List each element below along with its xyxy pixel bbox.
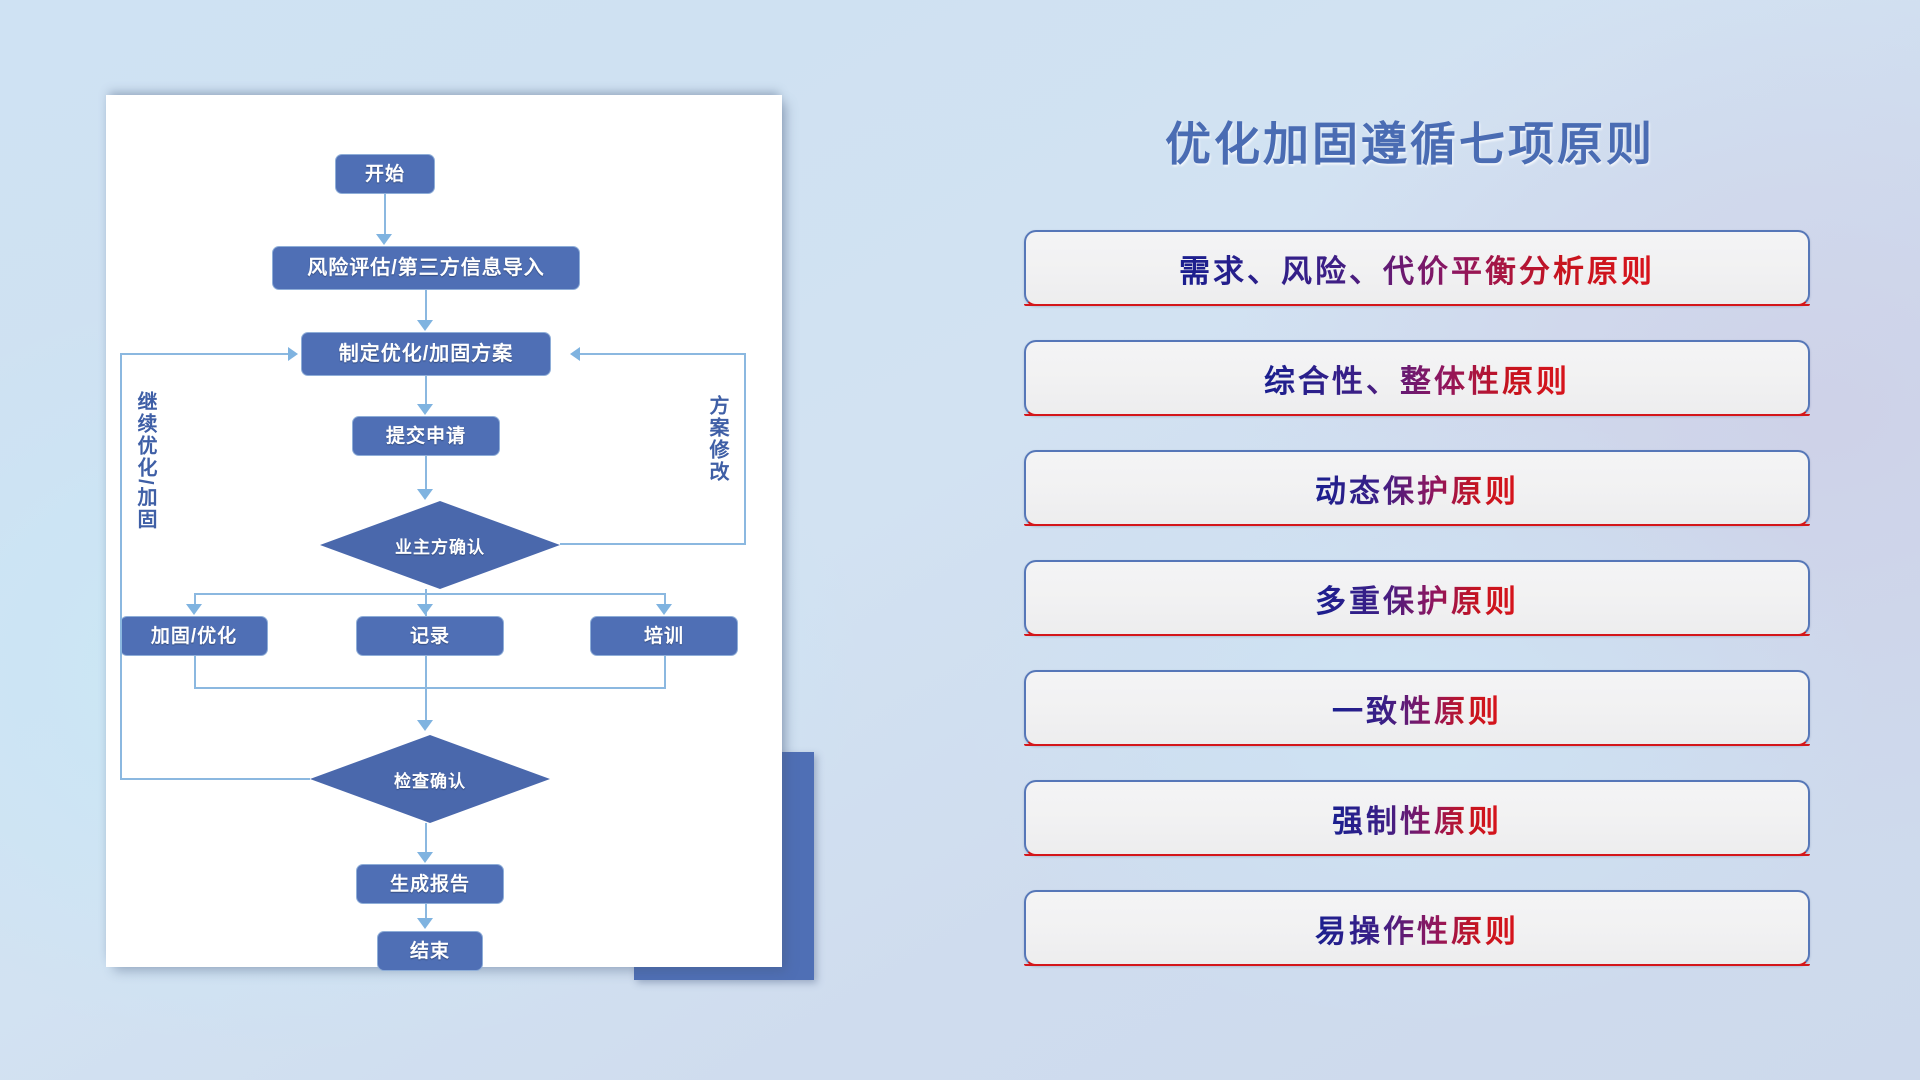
connector-merge-bus: [194, 687, 666, 689]
arrow-head-icon: [417, 852, 433, 863]
connector-submit-to-owner: [425, 456, 427, 491]
connector-plan-to-submit: [425, 376, 427, 406]
flow-node-training[interactable]: 培训: [590, 616, 738, 656]
principle-card-4[interactable]: 多重保护原则: [1024, 560, 1810, 636]
flow-node-plan[interactable]: 制定优化/加固方案: [301, 332, 551, 376]
arrow-head-icon: [417, 720, 433, 731]
connector-risk-to-plan: [425, 290, 427, 322]
connector-loop-right-bottom: [560, 543, 746, 545]
flowchart-stage: 开始 风险评估/第三方信息导入 制定优化/加固方案 提交申请 业主方确认 加固/…: [0, 0, 900, 1080]
principle-label: 动态保护原则: [1315, 466, 1519, 511]
flow-node-label: 培训: [644, 627, 684, 646]
connector-branch-bus: [194, 593, 666, 595]
principle-label: 易操作性原则: [1315, 906, 1519, 951]
principle-card-7[interactable]: 易操作性原则: [1024, 890, 1810, 966]
arrow-head-icon: [417, 404, 433, 415]
edge-label-continue-optimize: 继续优化/加固: [134, 381, 155, 541]
flow-node-risk-assessment[interactable]: 风险评估/第三方信息导入: [272, 246, 580, 290]
principles-list: 需求、风险、代价平衡分析原则 综合性、整体性原则 动态保护原则 多重保护原则 一…: [1024, 230, 1810, 1000]
arrow-head-icon: [570, 347, 580, 361]
connector-loop-right-rail: [744, 353, 746, 545]
flow-node-end[interactable]: 结束: [377, 931, 483, 971]
flow-node-label: 风险评估/第三方信息导入: [307, 258, 545, 278]
connector-check-to-report: [425, 823, 427, 852]
connector-loop-left-top: [120, 353, 290, 355]
connector-loop-left-bottom: [120, 778, 310, 780]
arrow-head-icon: [656, 604, 672, 615]
flow-node-label: 开始: [365, 165, 405, 184]
principle-card-1[interactable]: 需求、风险、代价平衡分析原则: [1024, 230, 1810, 306]
flow-node-label: 加固/优化: [151, 627, 237, 646]
flow-node-label: 提交申请: [386, 427, 466, 446]
flow-node-label: 记录: [410, 627, 450, 646]
principle-label: 多重保护原则: [1315, 576, 1519, 621]
connector-loop-left-rail: [120, 353, 122, 780]
flow-node-report[interactable]: 生成报告: [356, 864, 504, 904]
arrow-head-icon: [417, 918, 433, 929]
principle-label: 一致性原则: [1332, 686, 1502, 731]
connector-start-to-risk: [384, 194, 386, 236]
flowchart-diagram: 开始 风险评估/第三方信息导入 制定优化/加固方案 提交申请 业主方确认 加固/…: [106, 95, 782, 967]
arrow-head-icon: [186, 604, 202, 615]
flowchart-paper: 开始 风险评估/第三方信息导入 制定优化/加固方案 提交申请 业主方确认 加固/…: [106, 95, 782, 967]
arrow-head-icon: [417, 489, 433, 500]
principle-label: 强制性原则: [1332, 796, 1502, 841]
flow-decision-check-confirm[interactable]: 检查确认: [310, 735, 550, 823]
connector-record-to-check: [425, 656, 427, 722]
flow-node-label: 结束: [410, 942, 450, 961]
flow-decision-owner-confirm[interactable]: 业主方确认: [320, 501, 560, 589]
flow-node-label: 制定优化/加固方案: [339, 344, 514, 364]
principle-label: 需求、风险、代价平衡分析原则: [1179, 246, 1655, 291]
flow-node-reinforce[interactable]: 加固/优化: [120, 616, 268, 656]
flow-node-record[interactable]: 记录: [356, 616, 504, 656]
principle-card-2[interactable]: 综合性、整体性原则: [1024, 340, 1810, 416]
arrow-head-icon: [417, 604, 433, 615]
connector-training-down: [664, 656, 666, 689]
principles-panel: 优化加固遵循七项原则 需求、风险、代价平衡分析原则 综合性、整体性原则 动态保护…: [900, 0, 1920, 1080]
page-title: 优化加固遵循七项原则: [900, 108, 1920, 174]
flow-node-start[interactable]: 开始: [335, 154, 435, 194]
flow-node-submit[interactable]: 提交申请: [352, 416, 500, 456]
arrow-head-icon: [376, 234, 392, 245]
principle-card-3[interactable]: 动态保护原则: [1024, 450, 1810, 526]
principle-label: 综合性、整体性原则: [1264, 356, 1570, 401]
flow-node-label: 业主方确认: [395, 533, 485, 558]
arrow-head-icon: [288, 347, 298, 361]
arrow-head-icon: [417, 320, 433, 331]
connector-loop-right-top: [580, 353, 746, 355]
principle-card-5[interactable]: 一致性原则: [1024, 670, 1810, 746]
principle-card-6[interactable]: 强制性原则: [1024, 780, 1810, 856]
flow-node-label: 检查确认: [394, 767, 466, 792]
connector-reinforce-down: [194, 656, 196, 689]
edge-label-plan-revise: 方案修改: [706, 379, 727, 499]
flow-node-label: 生成报告: [390, 875, 470, 894]
